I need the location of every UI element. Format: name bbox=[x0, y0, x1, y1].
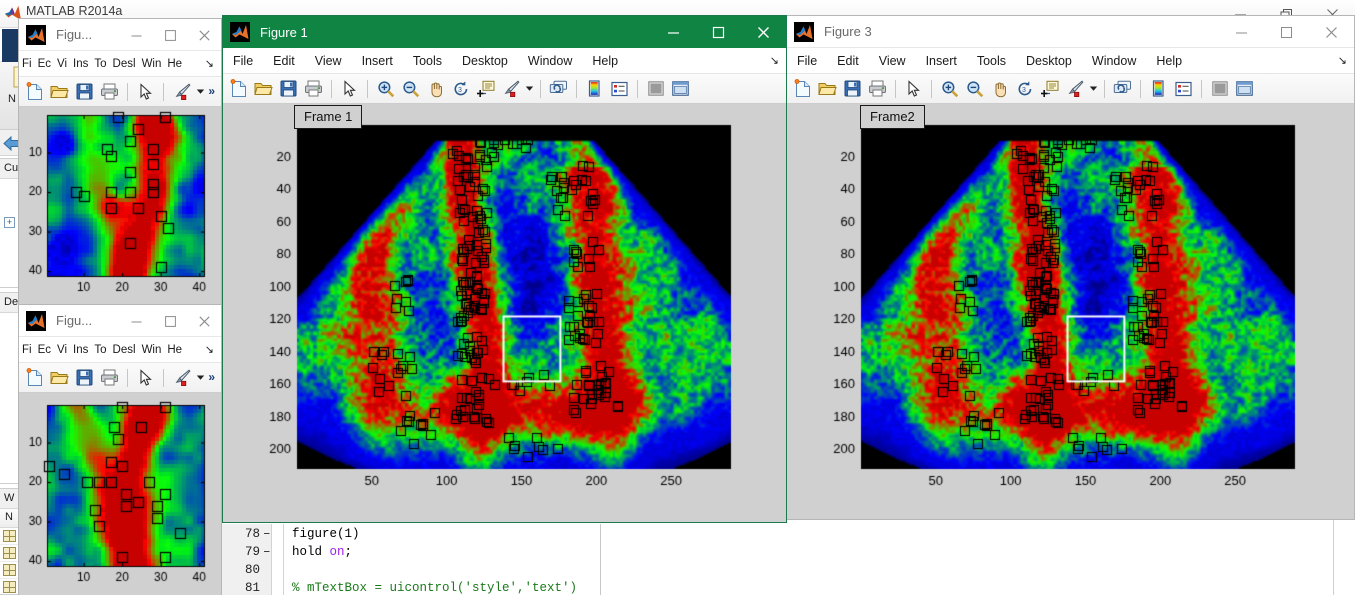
toolbar-separator bbox=[895, 80, 896, 98]
figure3-plot bbox=[787, 104, 1354, 519]
code-line: 80 bbox=[220, 563, 1333, 581]
small-fig1-maximize-icon[interactable] bbox=[153, 19, 187, 51]
small-fig1-menu-win[interactable]: Win bbox=[139, 51, 165, 77]
hide-plot-tools-icon[interactable] bbox=[1207, 76, 1232, 102]
small-fig1-menu-to[interactable]: To bbox=[91, 51, 109, 77]
toolbar-separator bbox=[1201, 80, 1202, 98]
small-fig2-menu-vi[interactable]: Vi bbox=[54, 337, 70, 363]
figure1-menu-file[interactable]: File bbox=[223, 48, 263, 74]
small-fig1-close-icon[interactable] bbox=[187, 19, 221, 51]
new-figure-icon[interactable] bbox=[226, 76, 251, 102]
small-fig2-minimize-icon[interactable] bbox=[119, 305, 153, 337]
small-fig1-menu-ins[interactable]: Ins bbox=[70, 51, 91, 77]
link-data-icon[interactable] bbox=[1110, 76, 1135, 102]
small-fig2-menubar[interactable]: FiEcViInsToDeslWinHe↘ bbox=[19, 337, 221, 363]
variable-icon bbox=[3, 564, 16, 576]
hide-plot-tools-icon[interactable] bbox=[643, 76, 668, 102]
show-plot-tools-icon[interactable] bbox=[1232, 76, 1257, 102]
pointer-icon[interactable] bbox=[133, 365, 158, 391]
print-figure-icon[interactable] bbox=[301, 76, 326, 102]
open-file-icon[interactable] bbox=[815, 76, 840, 102]
brush-dropdown-icon[interactable] bbox=[194, 365, 206, 391]
small-fig1-title: Figu... bbox=[56, 27, 92, 42]
figure1-menu-help[interactable]: Help bbox=[582, 48, 628, 74]
small-fig2-menu-fi[interactable]: Fi bbox=[19, 337, 35, 363]
new-figure-icon[interactable] bbox=[22, 79, 47, 105]
small-fig1-menu-overflow-icon[interactable]: ↘ bbox=[205, 57, 214, 70]
new-figure-icon[interactable] bbox=[22, 365, 47, 391]
small-fig1-menubar[interactable]: FiEcViInsToDeslWinHe↘ bbox=[19, 51, 221, 77]
toolbar-separator bbox=[931, 80, 932, 98]
toolbar-separator bbox=[367, 80, 368, 98]
rotate-3d-icon[interactable]: 3 bbox=[448, 76, 473, 102]
figure3-frame-tab[interactable]: Frame2 bbox=[860, 105, 925, 129]
brush-icon[interactable] bbox=[498, 76, 523, 102]
matlab-logo-icon bbox=[26, 311, 46, 331]
figure3-menu-edit[interactable]: Edit bbox=[827, 48, 869, 74]
figure3-title: Figure 3 bbox=[824, 24, 872, 39]
figure1-minimize-icon[interactable] bbox=[651, 16, 696, 48]
pointer-icon[interactable] bbox=[337, 76, 362, 102]
code-editor-pane[interactable]: 78–figure(1)79–hold on;8081% mTextBox = … bbox=[220, 524, 1333, 595]
variable-icon bbox=[3, 547, 16, 559]
data-cursor-icon[interactable] bbox=[473, 76, 498, 102]
small-fig1-menu-desl[interactable]: Desl bbox=[110, 51, 139, 77]
brush-dropdown-icon[interactable] bbox=[1087, 76, 1099, 102]
small-fig1-menu-fi[interactable]: Fi bbox=[19, 51, 35, 77]
figure1-menu-overflow-icon[interactable]: ↘ bbox=[770, 54, 779, 67]
rotate-3d-icon[interactable]: 3 bbox=[1012, 76, 1037, 102]
open-file-icon[interactable] bbox=[47, 79, 72, 105]
figure1-window-controls bbox=[651, 16, 786, 48]
figure3-menu-overflow-icon[interactable]: ↘ bbox=[1338, 54, 1347, 67]
pointer-icon[interactable] bbox=[133, 79, 158, 105]
figure1-maximize-icon[interactable] bbox=[696, 16, 741, 48]
small-figure-window-1[interactable]: Figu... FiEcViInsToDeslWinHe↘ » bbox=[18, 18, 222, 304]
small-fig2-menu-ins[interactable]: Ins bbox=[70, 337, 91, 363]
small-fig2-menu-win[interactable]: Win bbox=[139, 337, 165, 363]
figure3-canvas: Frame2 bbox=[787, 104, 1354, 519]
small-fig2-toolbar-overflow-icon[interactable]: » bbox=[208, 370, 215, 384]
matlab-logo-icon bbox=[26, 25, 46, 45]
new-script-label: N bbox=[8, 93, 16, 105]
figure1-toolbar[interactable]: 3 bbox=[223, 74, 786, 104]
open-file-icon[interactable] bbox=[251, 76, 276, 102]
figure3-menu-tools[interactable]: Tools bbox=[967, 48, 1016, 74]
small-fig2-maximize-icon[interactable] bbox=[153, 305, 187, 337]
figure1-menu-desktop[interactable]: Desktop bbox=[452, 48, 518, 74]
figure1-close-icon[interactable] bbox=[741, 16, 786, 48]
figure1-title: Figure 1 bbox=[260, 25, 308, 40]
small-fig2-close-icon[interactable] bbox=[187, 305, 221, 337]
small-fig2-titlebar[interactable]: Figu... bbox=[19, 305, 221, 337]
svg-text:3: 3 bbox=[458, 87, 462, 94]
code-line-text: % mTextBox = uicontrol('style','text') bbox=[292, 581, 577, 595]
print-figure-icon[interactable] bbox=[97, 365, 122, 391]
pointer-icon[interactable] bbox=[901, 76, 926, 102]
figure1-menu-edit[interactable]: Edit bbox=[263, 48, 305, 74]
new-figure-icon[interactable] bbox=[790, 76, 815, 102]
toolbar-separator bbox=[127, 369, 128, 387]
brush-dropdown-icon[interactable] bbox=[194, 79, 206, 105]
variable-icon bbox=[3, 581, 16, 593]
figure3-menu-file[interactable]: File bbox=[787, 48, 827, 74]
code-line-number: 79 bbox=[220, 545, 260, 559]
data-cursor-icon[interactable] bbox=[1037, 76, 1062, 102]
small-fig2-canvas bbox=[19, 393, 221, 595]
code-line-number: 80 bbox=[220, 563, 260, 577]
save-figure-icon[interactable] bbox=[72, 79, 97, 105]
figure1-menu-window[interactable]: Window bbox=[518, 48, 582, 74]
toolbar-separator bbox=[540, 80, 541, 98]
zoom-out-icon[interactable] bbox=[398, 76, 423, 102]
figure3-maximize-icon[interactable] bbox=[1264, 16, 1309, 48]
save-figure-icon[interactable] bbox=[840, 76, 865, 102]
figure1-canvas: Frame 1 bbox=[223, 104, 786, 522]
small-fig2-title: Figu... bbox=[56, 313, 92, 328]
figure3-menu-desktop[interactable]: Desktop bbox=[1016, 48, 1082, 74]
save-figure-icon[interactable] bbox=[72, 365, 97, 391]
toolbar-separator bbox=[163, 83, 164, 101]
matlab-logo-icon bbox=[230, 22, 250, 42]
small-fig2-menu-he[interactable]: He bbox=[164, 337, 185, 363]
small-fig2-plot bbox=[19, 393, 221, 595]
code-executable-marker: – bbox=[263, 527, 271, 541]
code-line-text: hold on; bbox=[292, 545, 352, 559]
small-fig1-minimize-icon[interactable] bbox=[119, 19, 153, 51]
link-data-icon[interactable] bbox=[546, 76, 571, 102]
small-fig1-plot bbox=[19, 107, 221, 307]
figure3-menu-window[interactable]: Window bbox=[1082, 48, 1146, 74]
figure3-menu-view[interactable]: View bbox=[869, 48, 916, 74]
brush-icon[interactable] bbox=[169, 79, 194, 105]
toolbar-separator bbox=[1104, 80, 1105, 98]
small-fig2-window-controls bbox=[119, 305, 221, 337]
small-fig1-window-controls bbox=[119, 19, 221, 51]
toolbar-separator bbox=[163, 369, 164, 387]
code-line: 79–hold on; bbox=[220, 545, 1333, 563]
small-fig2-menu-overflow-icon[interactable]: ↘ bbox=[205, 343, 214, 356]
pan-icon[interactable] bbox=[423, 76, 448, 102]
zoom-out-icon[interactable] bbox=[962, 76, 987, 102]
figure1-frame-tab[interactable]: Frame 1 bbox=[294, 105, 362, 129]
small-fig2-menu-to[interactable]: To bbox=[91, 337, 109, 363]
open-file-icon[interactable] bbox=[47, 365, 72, 391]
small-fig1-toolbar[interactable]: » bbox=[19, 77, 221, 107]
small-fig2-toolbar[interactable]: » bbox=[19, 363, 221, 393]
legend-icon[interactable] bbox=[1171, 76, 1196, 102]
small-fig1-menu-ec[interactable]: Ec bbox=[35, 51, 54, 77]
figure1-plot bbox=[223, 104, 786, 522]
brush-dropdown-icon[interactable] bbox=[523, 76, 535, 102]
code-executable-marker: – bbox=[263, 545, 271, 559]
print-figure-icon[interactable] bbox=[97, 79, 122, 105]
zoom-in-icon[interactable] bbox=[373, 76, 398, 102]
figure3-toolbar[interactable]: 3 bbox=[787, 74, 1354, 104]
code-line-number: 78 bbox=[220, 527, 260, 541]
code-line-number: 81 bbox=[220, 581, 260, 595]
figure3-menu-help[interactable]: Help bbox=[1146, 48, 1192, 74]
matlab-window-title: MATLAB R2014a bbox=[26, 4, 122, 18]
toolbar-separator bbox=[576, 80, 577, 98]
tree-expand-icon[interactable]: + bbox=[4, 217, 15, 228]
figure-window-1[interactable]: Figure 1 FileEditViewInsertToolsDesktopW… bbox=[222, 15, 787, 523]
small-fig1-toolbar-overflow-icon[interactable]: » bbox=[208, 84, 215, 98]
save-figure-icon[interactable] bbox=[276, 76, 301, 102]
small-fig1-titlebar[interactable]: Figu... bbox=[19, 19, 221, 51]
small-fig2-menu-desl[interactable]: Desl bbox=[110, 337, 139, 363]
toolbar-separator bbox=[1140, 80, 1141, 98]
code-line: 78–figure(1) bbox=[220, 527, 1333, 545]
figure1-titlebar[interactable]: Figure 1 bbox=[223, 16, 786, 48]
brush-icon[interactable] bbox=[169, 365, 194, 391]
small-fig1-menu-vi[interactable]: Vi bbox=[54, 51, 70, 77]
figure1-menu-tools[interactable]: Tools bbox=[403, 48, 452, 74]
code-line: 81% mTextBox = uicontrol('style','text') bbox=[220, 581, 1333, 595]
small-fig1-canvas bbox=[19, 107, 221, 307]
toolbar-separator bbox=[127, 83, 128, 101]
figure3-minimize-icon[interactable] bbox=[1219, 16, 1264, 48]
show-plot-tools-icon[interactable] bbox=[668, 76, 693, 102]
figure3-menubar[interactable]: FileEditViewInsertToolsDesktopWindowHelp… bbox=[787, 48, 1354, 74]
zoom-in-icon[interactable] bbox=[937, 76, 962, 102]
legend-icon[interactable] bbox=[607, 76, 632, 102]
brush-icon[interactable] bbox=[1062, 76, 1087, 102]
figure-window-3[interactable]: Figure 3 FileEditViewInsertToolsDesktopW… bbox=[786, 15, 1355, 520]
code-line-text: figure(1) bbox=[292, 527, 360, 541]
figure3-window-controls bbox=[1219, 16, 1354, 48]
figure1-menu-insert[interactable]: Insert bbox=[352, 48, 403, 74]
print-figure-icon[interactable] bbox=[865, 76, 890, 102]
matlab-logo-icon bbox=[794, 22, 814, 42]
figure1-menu-view[interactable]: View bbox=[305, 48, 352, 74]
small-fig1-menu-he[interactable]: He bbox=[164, 51, 185, 77]
figure1-menubar[interactable]: FileEditViewInsertToolsDesktopWindowHelp… bbox=[223, 48, 786, 74]
figure3-menu-insert[interactable]: Insert bbox=[916, 48, 967, 74]
colorbar-icon[interactable] bbox=[1146, 76, 1171, 102]
figure3-close-icon[interactable] bbox=[1309, 16, 1354, 48]
colorbar-icon[interactable] bbox=[582, 76, 607, 102]
pan-icon[interactable] bbox=[987, 76, 1012, 102]
variable-icon bbox=[3, 530, 16, 542]
toolbar-separator bbox=[331, 80, 332, 98]
toolbar-separator bbox=[637, 80, 638, 98]
small-fig2-menu-ec[interactable]: Ec bbox=[35, 337, 54, 363]
small-figure-window-2[interactable]: Figu... FiEcViInsToDeslWinHe↘ » bbox=[18, 304, 222, 595]
figure3-titlebar[interactable]: Figure 3 bbox=[787, 16, 1354, 48]
svg-text:3: 3 bbox=[1022, 87, 1026, 94]
